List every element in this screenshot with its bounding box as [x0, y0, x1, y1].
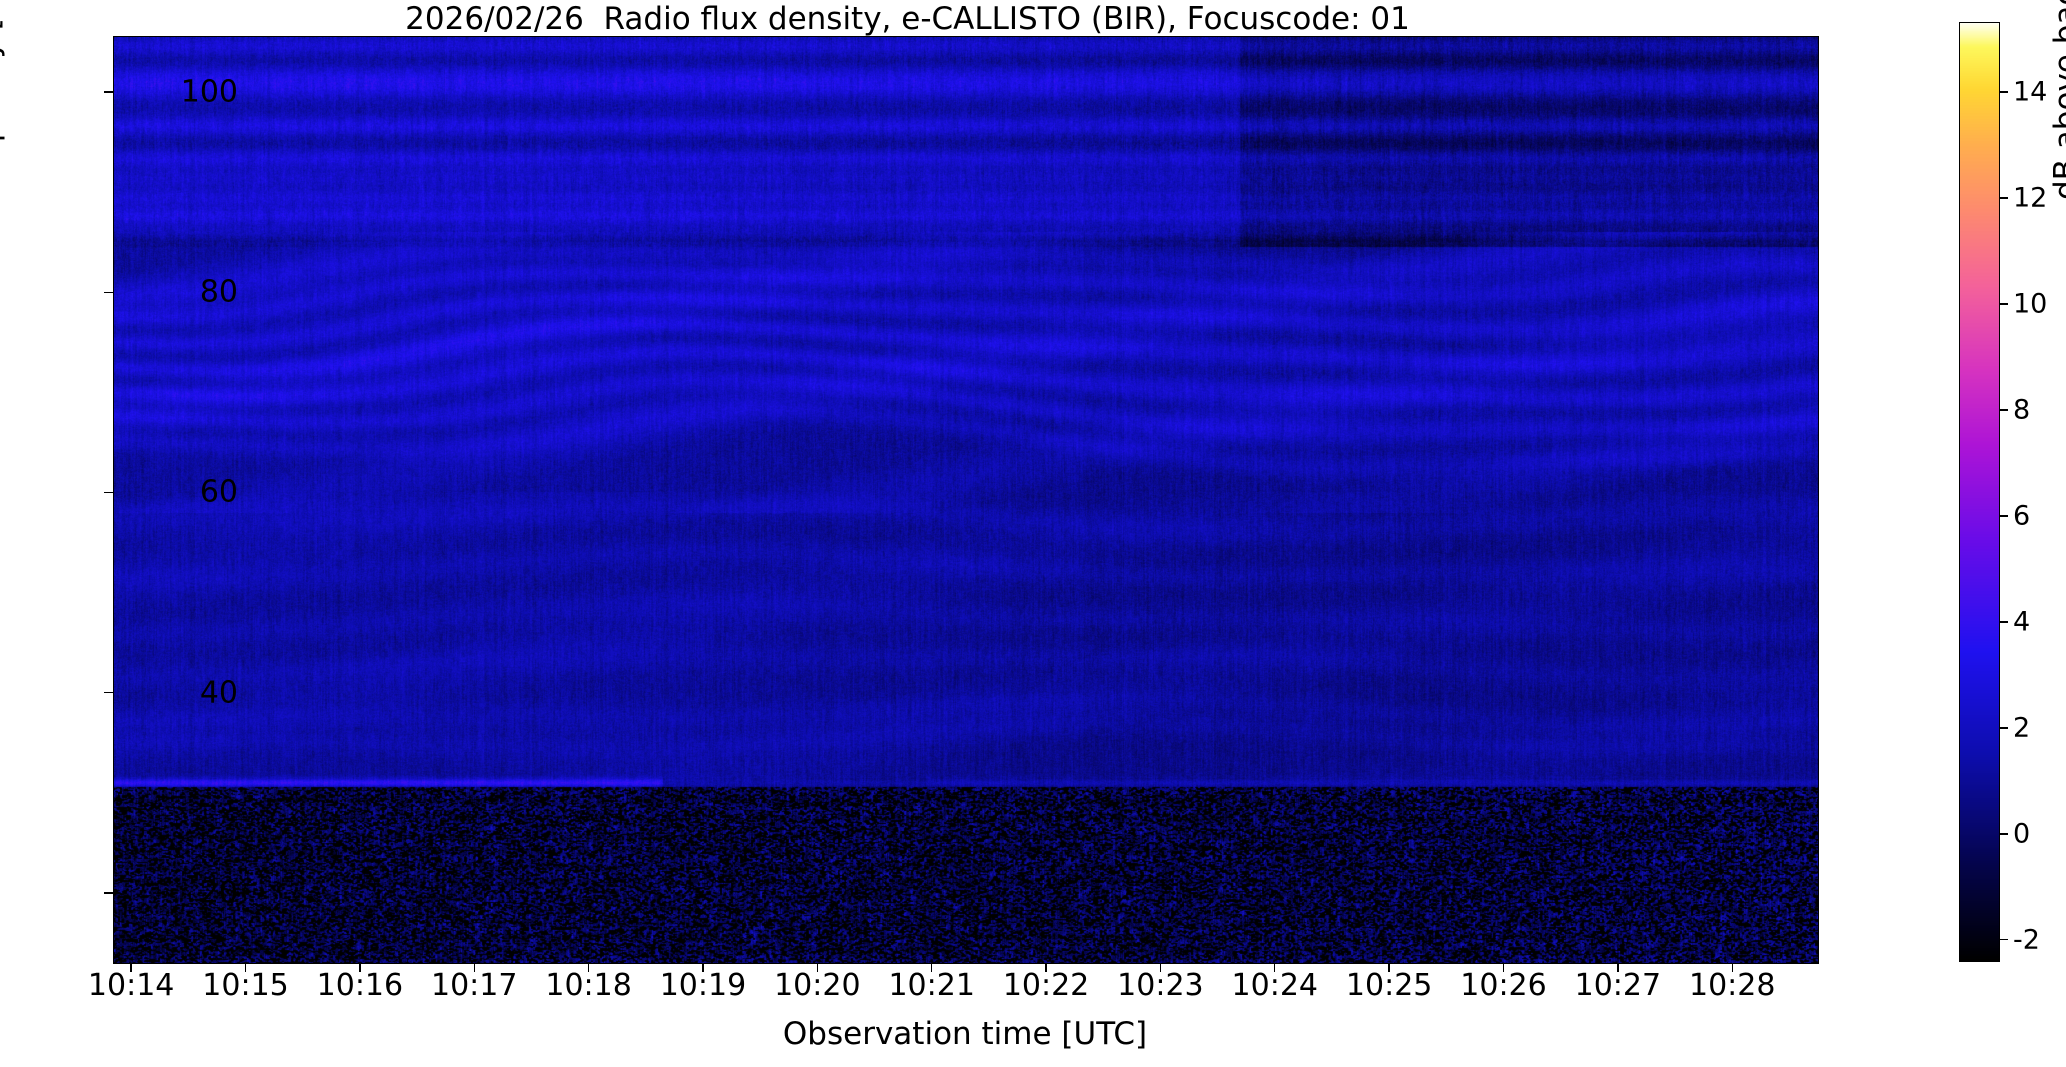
y-axis-label: Frequency [MHz] — [0, 0, 6, 280]
x-tick-label-10-28: 10:28 — [1642, 968, 1822, 1003]
colorbar-tick-mark — [2000, 303, 2008, 304]
x-axis-label: Observation time [UTC] — [113, 1016, 1817, 1052]
y-tick-label-100: 100 — [118, 75, 238, 110]
colorbar-tick-mark — [2000, 409, 2008, 410]
spectrogram-figure: 2026/02/26 Radio flux density, e-CALLIST… — [0, 0, 2066, 1067]
x-tick-mark — [474, 963, 475, 972]
x-tick-mark — [1732, 963, 1733, 972]
colorbar-tick-label-5: 8 — [2013, 394, 2030, 425]
colorbar-tick-mark — [2000, 833, 2008, 834]
x-tick-mark — [1045, 963, 1046, 972]
colorbar-tick-mark — [2000, 515, 2008, 516]
colorbar-label: dB above background — [2048, 0, 2066, 200]
colorbar-tick-label-2: 2 — [2013, 712, 2030, 743]
x-tick-mark — [1274, 963, 1275, 972]
colorbar-tick-label-0: -2 — [2013, 924, 2040, 955]
y-tick-label-40: 40 — [118, 675, 238, 710]
spectrogram-image — [114, 37, 1818, 963]
chart-title: 2026/02/26 Radio flux density, e-CALLIST… — [0, 1, 1815, 37]
x-tick-mark — [245, 963, 246, 972]
y-tick-mark — [104, 892, 113, 893]
colorbar-gradient — [1960, 23, 1999, 961]
colorbar-tick-label-3: 4 — [2013, 606, 2030, 637]
colorbar-tick-mark — [2000, 939, 2008, 940]
colorbar-tick-label-4: 6 — [2013, 500, 2030, 531]
y-tick-label-80: 80 — [118, 275, 238, 310]
y-tick-mark — [104, 692, 113, 693]
x-tick-mark — [588, 963, 589, 972]
x-tick-mark — [1160, 963, 1161, 972]
colorbar-tick-mark — [2000, 621, 2008, 622]
y-tick-label-60: 60 — [118, 475, 238, 510]
y-tick-label-20: 20 — [118, 875, 238, 910]
x-tick-mark — [130, 963, 131, 972]
colorbar-tick-label-8: 14 — [2013, 76, 2047, 107]
colorbar — [1959, 22, 2000, 962]
x-tick-mark — [1617, 963, 1618, 972]
x-tick-mark — [1503, 963, 1504, 972]
spectrogram-axes — [113, 36, 1819, 964]
x-tick-mark — [1388, 963, 1389, 972]
colorbar-tick-mark — [2000, 91, 2008, 92]
x-tick-mark — [359, 963, 360, 972]
y-tick-mark — [104, 91, 113, 92]
x-tick-mark — [817, 963, 818, 972]
y-tick-mark — [104, 292, 113, 293]
colorbar-tick-label-6: 10 — [2013, 288, 2047, 319]
y-tick-mark — [104, 492, 113, 493]
x-tick-mark — [702, 963, 703, 972]
colorbar-tick-mark — [2000, 197, 2008, 198]
colorbar-tick-label-1: 0 — [2013, 818, 2030, 849]
x-tick-mark — [931, 963, 932, 972]
colorbar-tick-label-7: 12 — [2013, 182, 2047, 213]
colorbar-tick-mark — [2000, 727, 2008, 728]
